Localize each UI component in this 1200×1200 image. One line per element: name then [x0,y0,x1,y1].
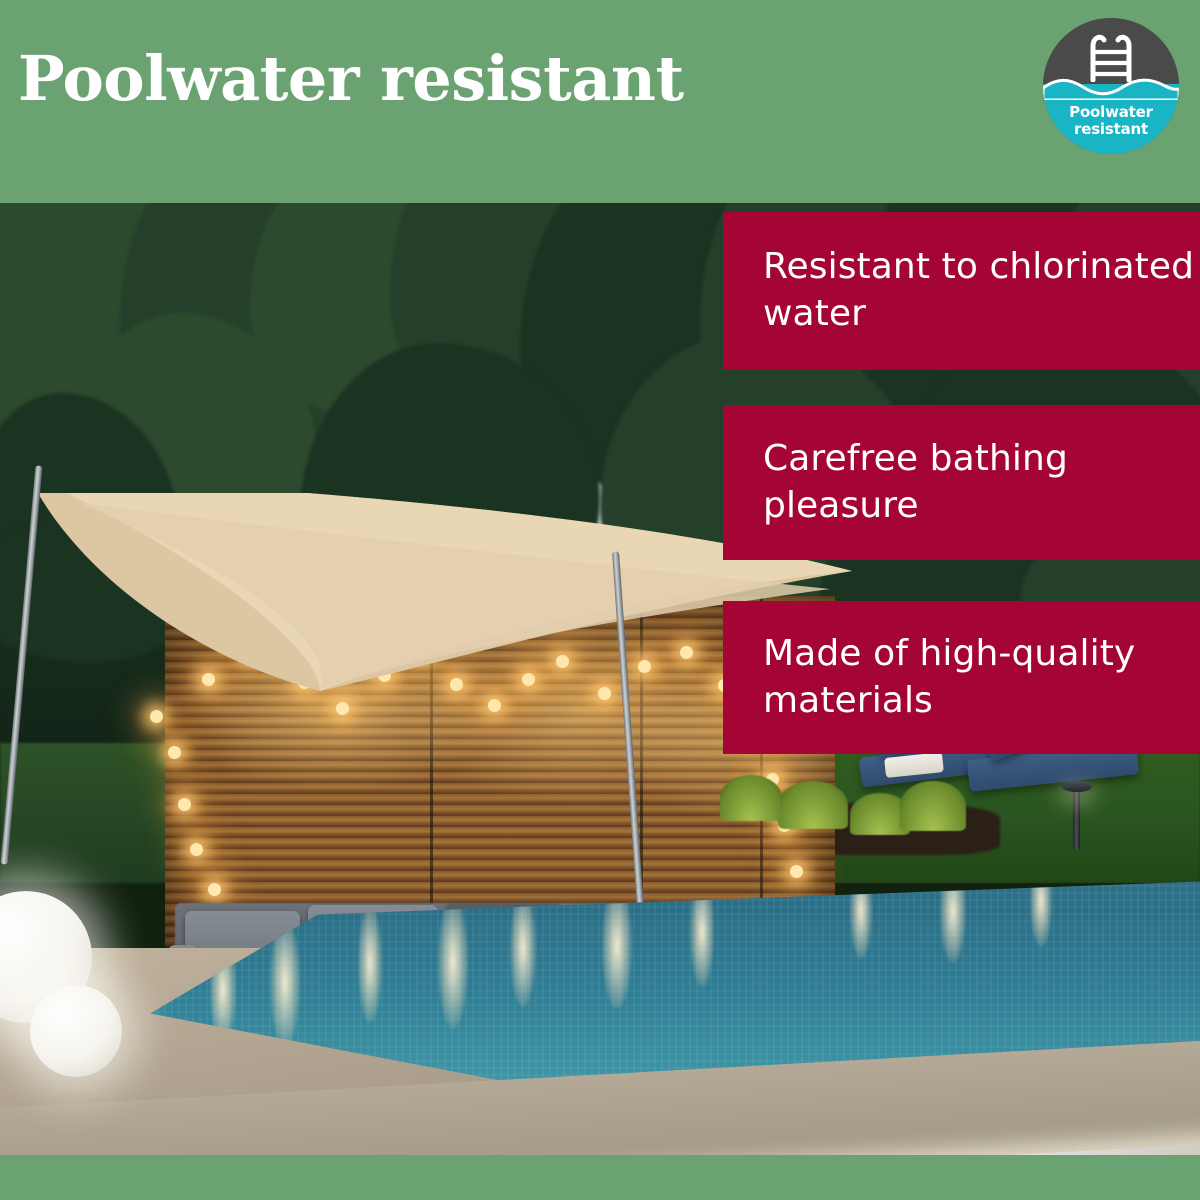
poolwater-resistant-badge: Poolwater resistant [1043,18,1179,154]
ornamental-grass [720,775,782,821]
page-title: Poolwater resistant [18,48,684,110]
footer-band [0,1155,1200,1200]
header-band: Poolwater resistant Poolwater resistant [0,0,1200,203]
bollard-light-pole [1073,788,1080,850]
feature-callout-1: Resistant to chlorinated water [723,212,1200,370]
feature-callout-2-text: Carefree bathing pleasure [763,436,1200,530]
feature-callout-2: Carefree bathing pleasure [723,405,1200,560]
water-wave-icon [1043,74,1179,100]
badge-label-line1: Poolwater [1043,104,1179,121]
ornamental-grass [778,781,848,829]
poster: Poolwater resistant Poolwater resistant … [0,0,1200,1200]
sphere-lamp-small [30,985,122,1077]
feature-callout-1-text: Resistant to chlorinated water [763,244,1200,338]
feature-callout-3-text: Made of high-quality materials [763,631,1200,725]
foreground-grass [0,1083,1200,1155]
badge-label-line2: resistant [1043,121,1179,138]
bollard-light-head [1062,781,1092,792]
ornamental-grass [900,781,966,831]
feature-callout-3: Made of high-quality materials [723,601,1200,754]
badge-label: Poolwater resistant [1043,104,1179,139]
